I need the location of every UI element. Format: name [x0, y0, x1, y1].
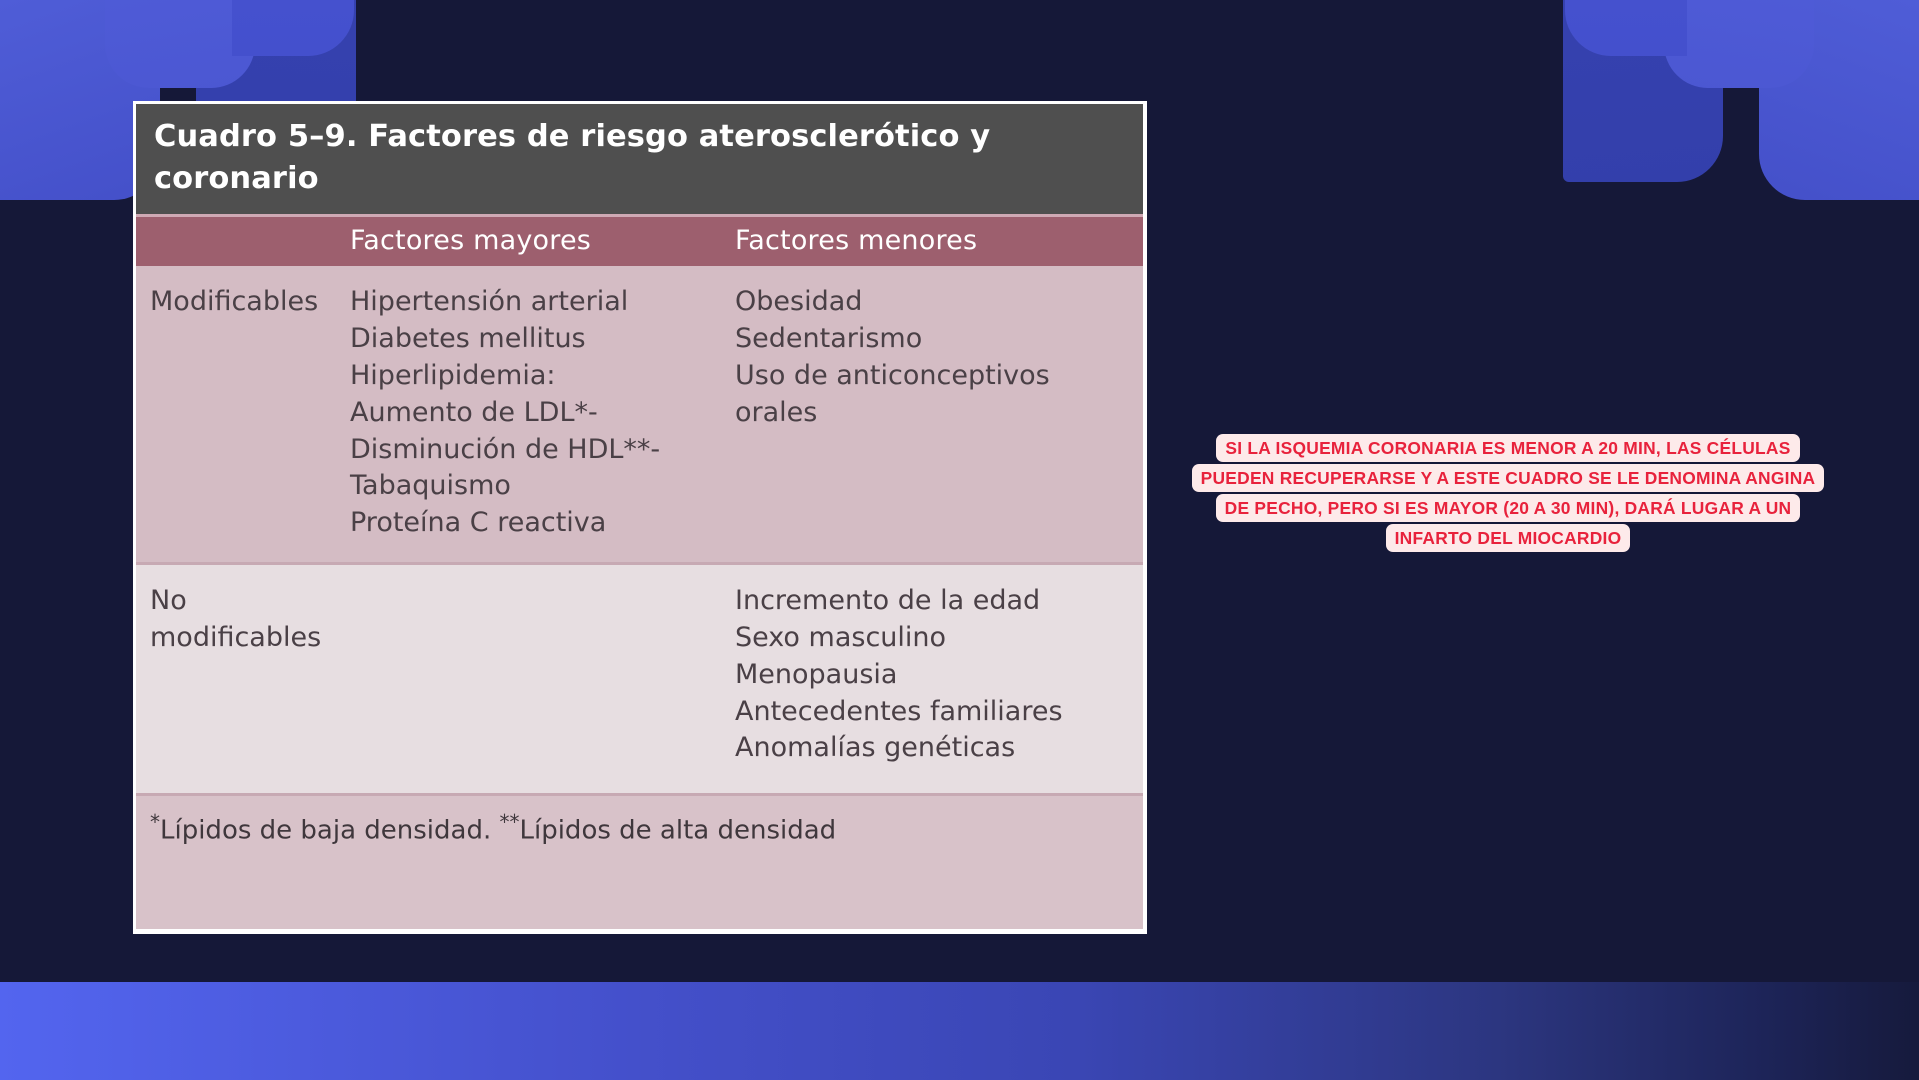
footnote-text-hdl: Lípidos de alta densidad: [520, 816, 837, 846]
cell-modifiable-minor: Obesidad Sedentarismo Uso de anticoncept…: [701, 284, 1143, 542]
cell-non-modifiable-minor: Incremento de la edad Sexo masculino Men…: [701, 583, 1143, 767]
cell-non-modifiable-major: [350, 583, 701, 767]
ribbon-shape-right-1: [1759, 0, 1919, 200]
annotation-line: DE PECHO, PERO SI ES MAYOR (20 A 30 MIN)…: [1149, 494, 1867, 524]
ribbon-shape-left-4: [232, 0, 354, 56]
table-title: Cuadro 5–9. Factores de riesgo ateroscle…: [136, 104, 1143, 214]
row-category-modifiable: Modificables: [136, 284, 350, 542]
annotation-line: PUEDEN RECUPERARSE Y A ESTE CUADRO SE LE…: [1149, 464, 1867, 494]
table-row: No modificables Incremento de la edad Se…: [136, 562, 1143, 793]
annotation-note: SI LA ISQUEMIA CORONARIA ES MENOR A 20 M…: [1149, 434, 1867, 554]
figure-table-image: Cuadro 5–9. Factores de riesgo ateroscle…: [133, 101, 1147, 934]
row-category-non-modifiable: No modificables: [136, 583, 350, 767]
table-row: Modificables Hipertensión arterial Diabe…: [136, 266, 1143, 562]
column-header-category: [136, 225, 350, 256]
slide-canvas: Cuadro 5–9. Factores de riesgo ateroscle…: [0, 0, 1919, 1080]
annotation-line: INFARTO DEL MIOCARDIO: [1149, 524, 1867, 554]
bottom-gradient-band: [0, 982, 1919, 1080]
footnote-mark-single: *: [150, 810, 160, 834]
table-footnote: *Lípidos de baja densidad. **Lípidos de …: [136, 793, 1143, 929]
annotation-line: SI LA ISQUEMIA CORONARIA ES MENOR A 20 M…: [1149, 434, 1867, 464]
column-header-major-factors: Factores mayores: [350, 225, 701, 256]
footnote-text-ldl: Lípidos de baja densidad.: [160, 816, 500, 846]
table: Cuadro 5–9. Factores de riesgo ateroscle…: [136, 104, 1143, 929]
ribbon-shape-right-2: [1664, 0, 1814, 88]
ribbon-shape-right-3: [1563, 0, 1723, 182]
footnote-mark-double: **: [500, 810, 520, 834]
ribbon-shape-left-2: [105, 0, 255, 88]
cell-modifiable-major: Hipertensión arterial Diabetes mellitus …: [350, 284, 701, 542]
column-header-minor-factors: Factores menores: [701, 225, 1143, 256]
ribbon-shape-right-4: [1565, 0, 1687, 56]
table-header-row: Factores mayores Factores menores: [136, 214, 1143, 266]
